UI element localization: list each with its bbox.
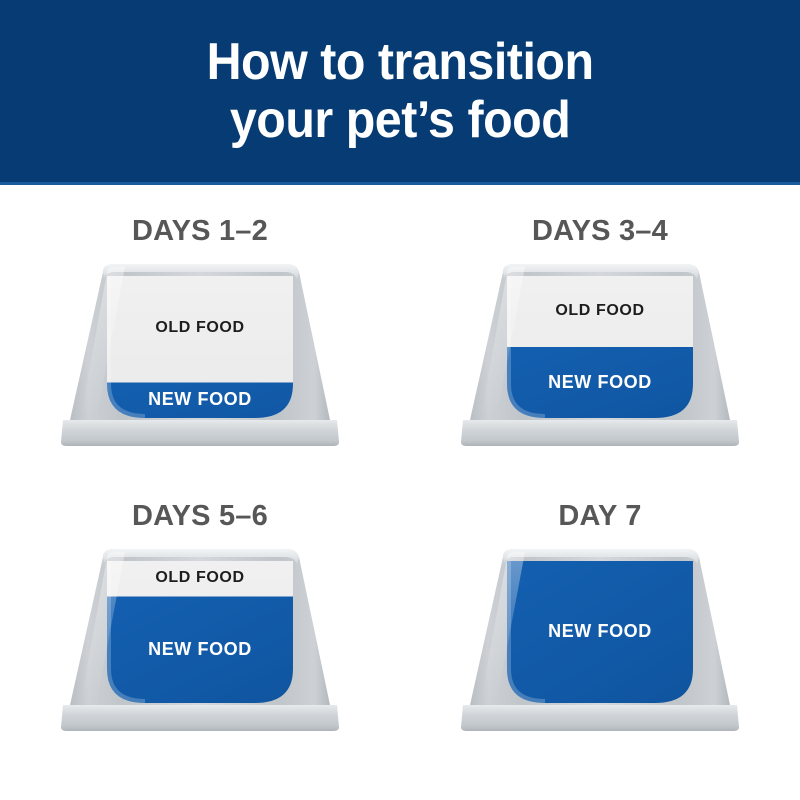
page-title-line-2: your pet’s food (230, 91, 570, 149)
transition-step-day-7: DAY 7 (400, 470, 800, 755)
transition-step-days-3-4: DAYS 3–4 (400, 185, 800, 470)
transition-step-days-1-2: DAYS 1–2 (0, 185, 400, 470)
infographic-page: How to transition your pet’s food DAYS 1… (0, 0, 800, 800)
bowl-illustration (45, 258, 355, 458)
pet-food-bowl: OLD FOODNEW FOOD (45, 258, 355, 458)
bowl-illustration (445, 258, 755, 458)
pet-food-bowl: OLD FOODNEW FOOD (445, 258, 755, 458)
bowl-illustration (445, 543, 755, 743)
transition-steps-grid: DAYS 1–2 (0, 185, 800, 800)
page-title-line-1: How to transition (206, 33, 593, 91)
bowl-base (61, 705, 339, 731)
transition-step-days-5-6: DAYS 5–6 (0, 470, 400, 755)
step-title: DAY 7 (558, 500, 641, 533)
pet-food-bowl: OLD FOODNEW FOOD (45, 543, 355, 743)
bowl-illustration (45, 543, 355, 743)
step-title: DAYS 3–4 (532, 215, 668, 248)
header-banner: How to transition your pet’s food (0, 0, 800, 185)
bowl-base (461, 705, 739, 731)
step-title: DAYS 5–6 (132, 500, 268, 533)
step-title: DAYS 1–2 (132, 215, 268, 248)
bowl-base (461, 420, 739, 446)
pet-food-bowl: NEW FOOD (445, 543, 755, 743)
bowl-base (61, 420, 339, 446)
